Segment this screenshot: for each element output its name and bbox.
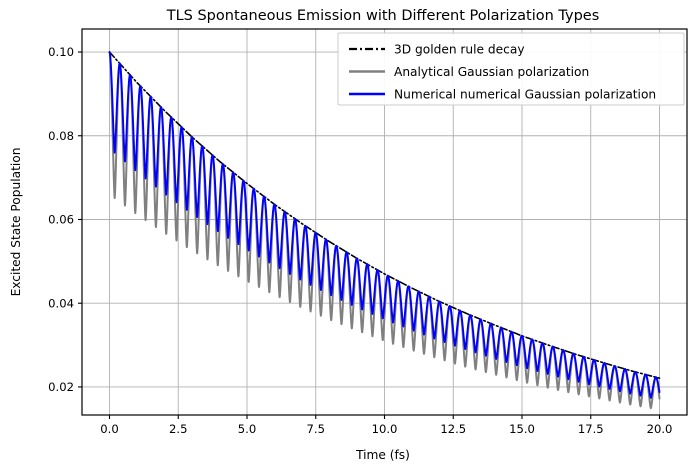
y-tick-label: 0.10	[48, 45, 74, 59]
y-tick-label: 0.04	[48, 296, 74, 310]
chart-title: TLS Spontaneous Emission with Different …	[166, 8, 600, 24]
x-tick-label: 5.0	[238, 422, 256, 436]
y-axis-label: Excited State Population	[9, 148, 23, 297]
x-tick-label: 0.0	[100, 422, 118, 436]
x-axis-label: Time (fs)	[355, 448, 410, 462]
x-tick-label: 20.0	[647, 422, 673, 436]
y-tick-label: 0.02	[48, 380, 74, 394]
legend-label-2[interactable]: Numerical numerical Gaussian polarizatio…	[394, 87, 656, 101]
figure-canvas: 0.02.55.07.510.012.515.017.520.00.020.04…	[0, 0, 700, 468]
chart-legend[interactable]: 3D golden rule decayAnalytical Gaussian …	[338, 33, 684, 105]
x-tick-label: 10.0	[372, 422, 398, 436]
x-tick-label: 2.5	[169, 422, 187, 436]
y-tick-label: 0.06	[48, 213, 74, 227]
y-tick-label: 0.08	[48, 129, 74, 143]
chart-plot: 0.02.55.07.510.012.515.017.520.00.020.04…	[0, 0, 700, 468]
x-tick-label: 15.0	[509, 422, 535, 436]
x-tick-label: 12.5	[440, 422, 466, 436]
x-tick-label: 7.5	[307, 422, 325, 436]
x-tick-label: 17.5	[578, 422, 604, 436]
legend-label-0[interactable]: 3D golden rule decay	[394, 42, 525, 56]
legend-label-1[interactable]: Analytical Gaussian polarization	[394, 65, 589, 79]
